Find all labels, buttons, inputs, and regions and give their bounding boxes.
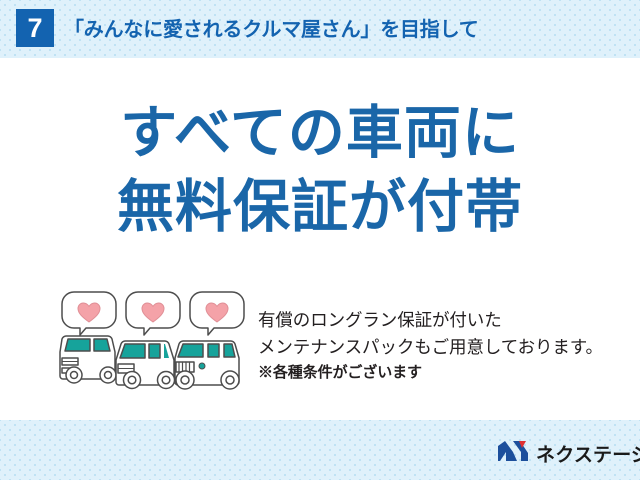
body-line-1: 有償のロングラン保証が付いた (258, 307, 633, 334)
car-wagon (116, 341, 175, 389)
brand-name: ネクステージ (536, 440, 640, 467)
step-number-badge: 7 (16, 9, 54, 47)
headline: すべての車両に 無料保証が付帯 (0, 96, 640, 244)
heart-bubble-1 (62, 292, 116, 335)
heart-bubble-3 (190, 292, 244, 335)
car-minivan (60, 336, 116, 383)
car-illustration (52, 288, 252, 400)
body-copy: 有償のロングラン保証が付いた メンテナンスパックもご用意しております。 ※各種条… (258, 307, 633, 385)
header-title: 「みんなに愛されるクルマ屋さん」を目指して (64, 13, 479, 42)
promo-slide: 7 「みんなに愛されるクルマ屋さん」を目指して すべての車両に 無料保証が付帯 (0, 0, 640, 480)
brand-logo: ネクステージ (497, 439, 640, 467)
heart-bubble-2 (126, 292, 180, 335)
headline-line-2: 無料保証が付帯 (0, 170, 640, 244)
car-suv (175, 341, 239, 389)
nexstage-n-mark-icon (497, 439, 529, 468)
headline-line-1: すべての車両に (0, 96, 640, 170)
body-note: ※各種条件がございます (258, 360, 633, 385)
body-line-2: メンテナンスパックもご用意しております。 (258, 334, 633, 361)
